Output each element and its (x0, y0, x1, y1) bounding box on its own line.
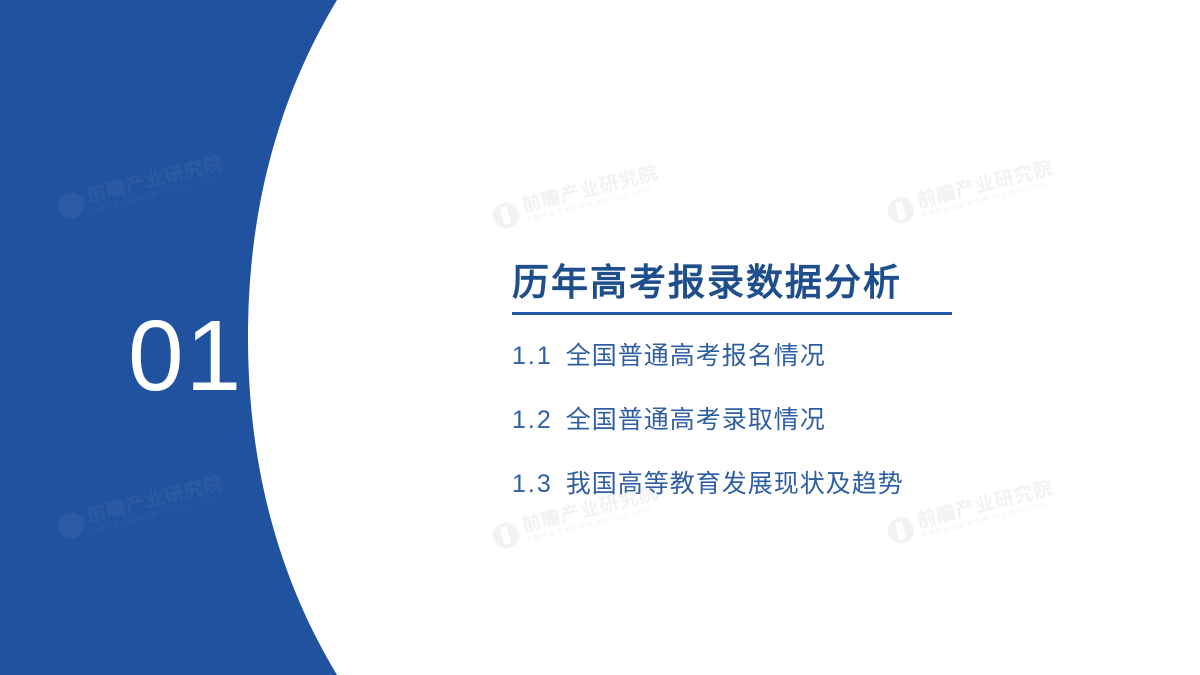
qianzhan-circle-logo-icon (490, 200, 522, 232)
section-content: 历年高考报录数据分析 1.1 全国普通高考报名情况 1.2 全国普通高考录取情况… (512, 262, 1032, 515)
qianzhan-circle-logo-icon (885, 515, 917, 547)
list-item[interactable]: 1.2 全国普通高考录取情况 (512, 406, 1032, 435)
watermark-tile: 前瞻产业研究院 中国产业咨询领导者·400-639-9936 (885, 159, 1058, 228)
list-item-label: 全国普通高考录取情况 (566, 406, 826, 435)
qianzhan-circle-logo-icon (490, 520, 522, 552)
page-title: 历年高考报录数据分析 (512, 262, 1032, 303)
watermark-sub-text: 中国产业咨询领导者·400-639-9936 (525, 185, 662, 225)
list-item-label: 我国高等教育发展现状及趋势 (566, 470, 904, 499)
list-item-label: 全国普通高考报名情况 (566, 342, 826, 371)
watermark-main-text: 前瞻产业研究院 (915, 159, 1055, 211)
section-number: 01 (128, 306, 243, 406)
list-item-number: 1.1 (512, 342, 553, 371)
watermark-main-text: 前瞻产业研究院 (520, 164, 660, 216)
watermark-tile: 前瞻产业研究院 中国产业咨询领导者·400-639-9936 (490, 164, 663, 233)
list-item[interactable]: 1.1 全国普通高考报名情况 (512, 342, 1032, 371)
table-of-contents-list: 1.1 全国普通高考报名情况 1.2 全国普通高考录取情况 1.3 我国高等教育… (512, 342, 1032, 498)
list-item[interactable]: 1.3 我国高等教育发展现状及趋势 (512, 470, 1032, 499)
watermark-sub-text: 中国产业咨询领导者·400-639-9936 (920, 180, 1057, 220)
title-underline-rule (512, 312, 952, 315)
list-item-number: 1.3 (512, 470, 553, 499)
list-item-number: 1.2 (512, 406, 553, 435)
presentation-slide: 前瞻产业研究院 中国产业咨询领导者·400-639-9936 前瞻产业研究院 中… (0, 0, 1200, 675)
qianzhan-circle-logo-icon (885, 195, 917, 227)
